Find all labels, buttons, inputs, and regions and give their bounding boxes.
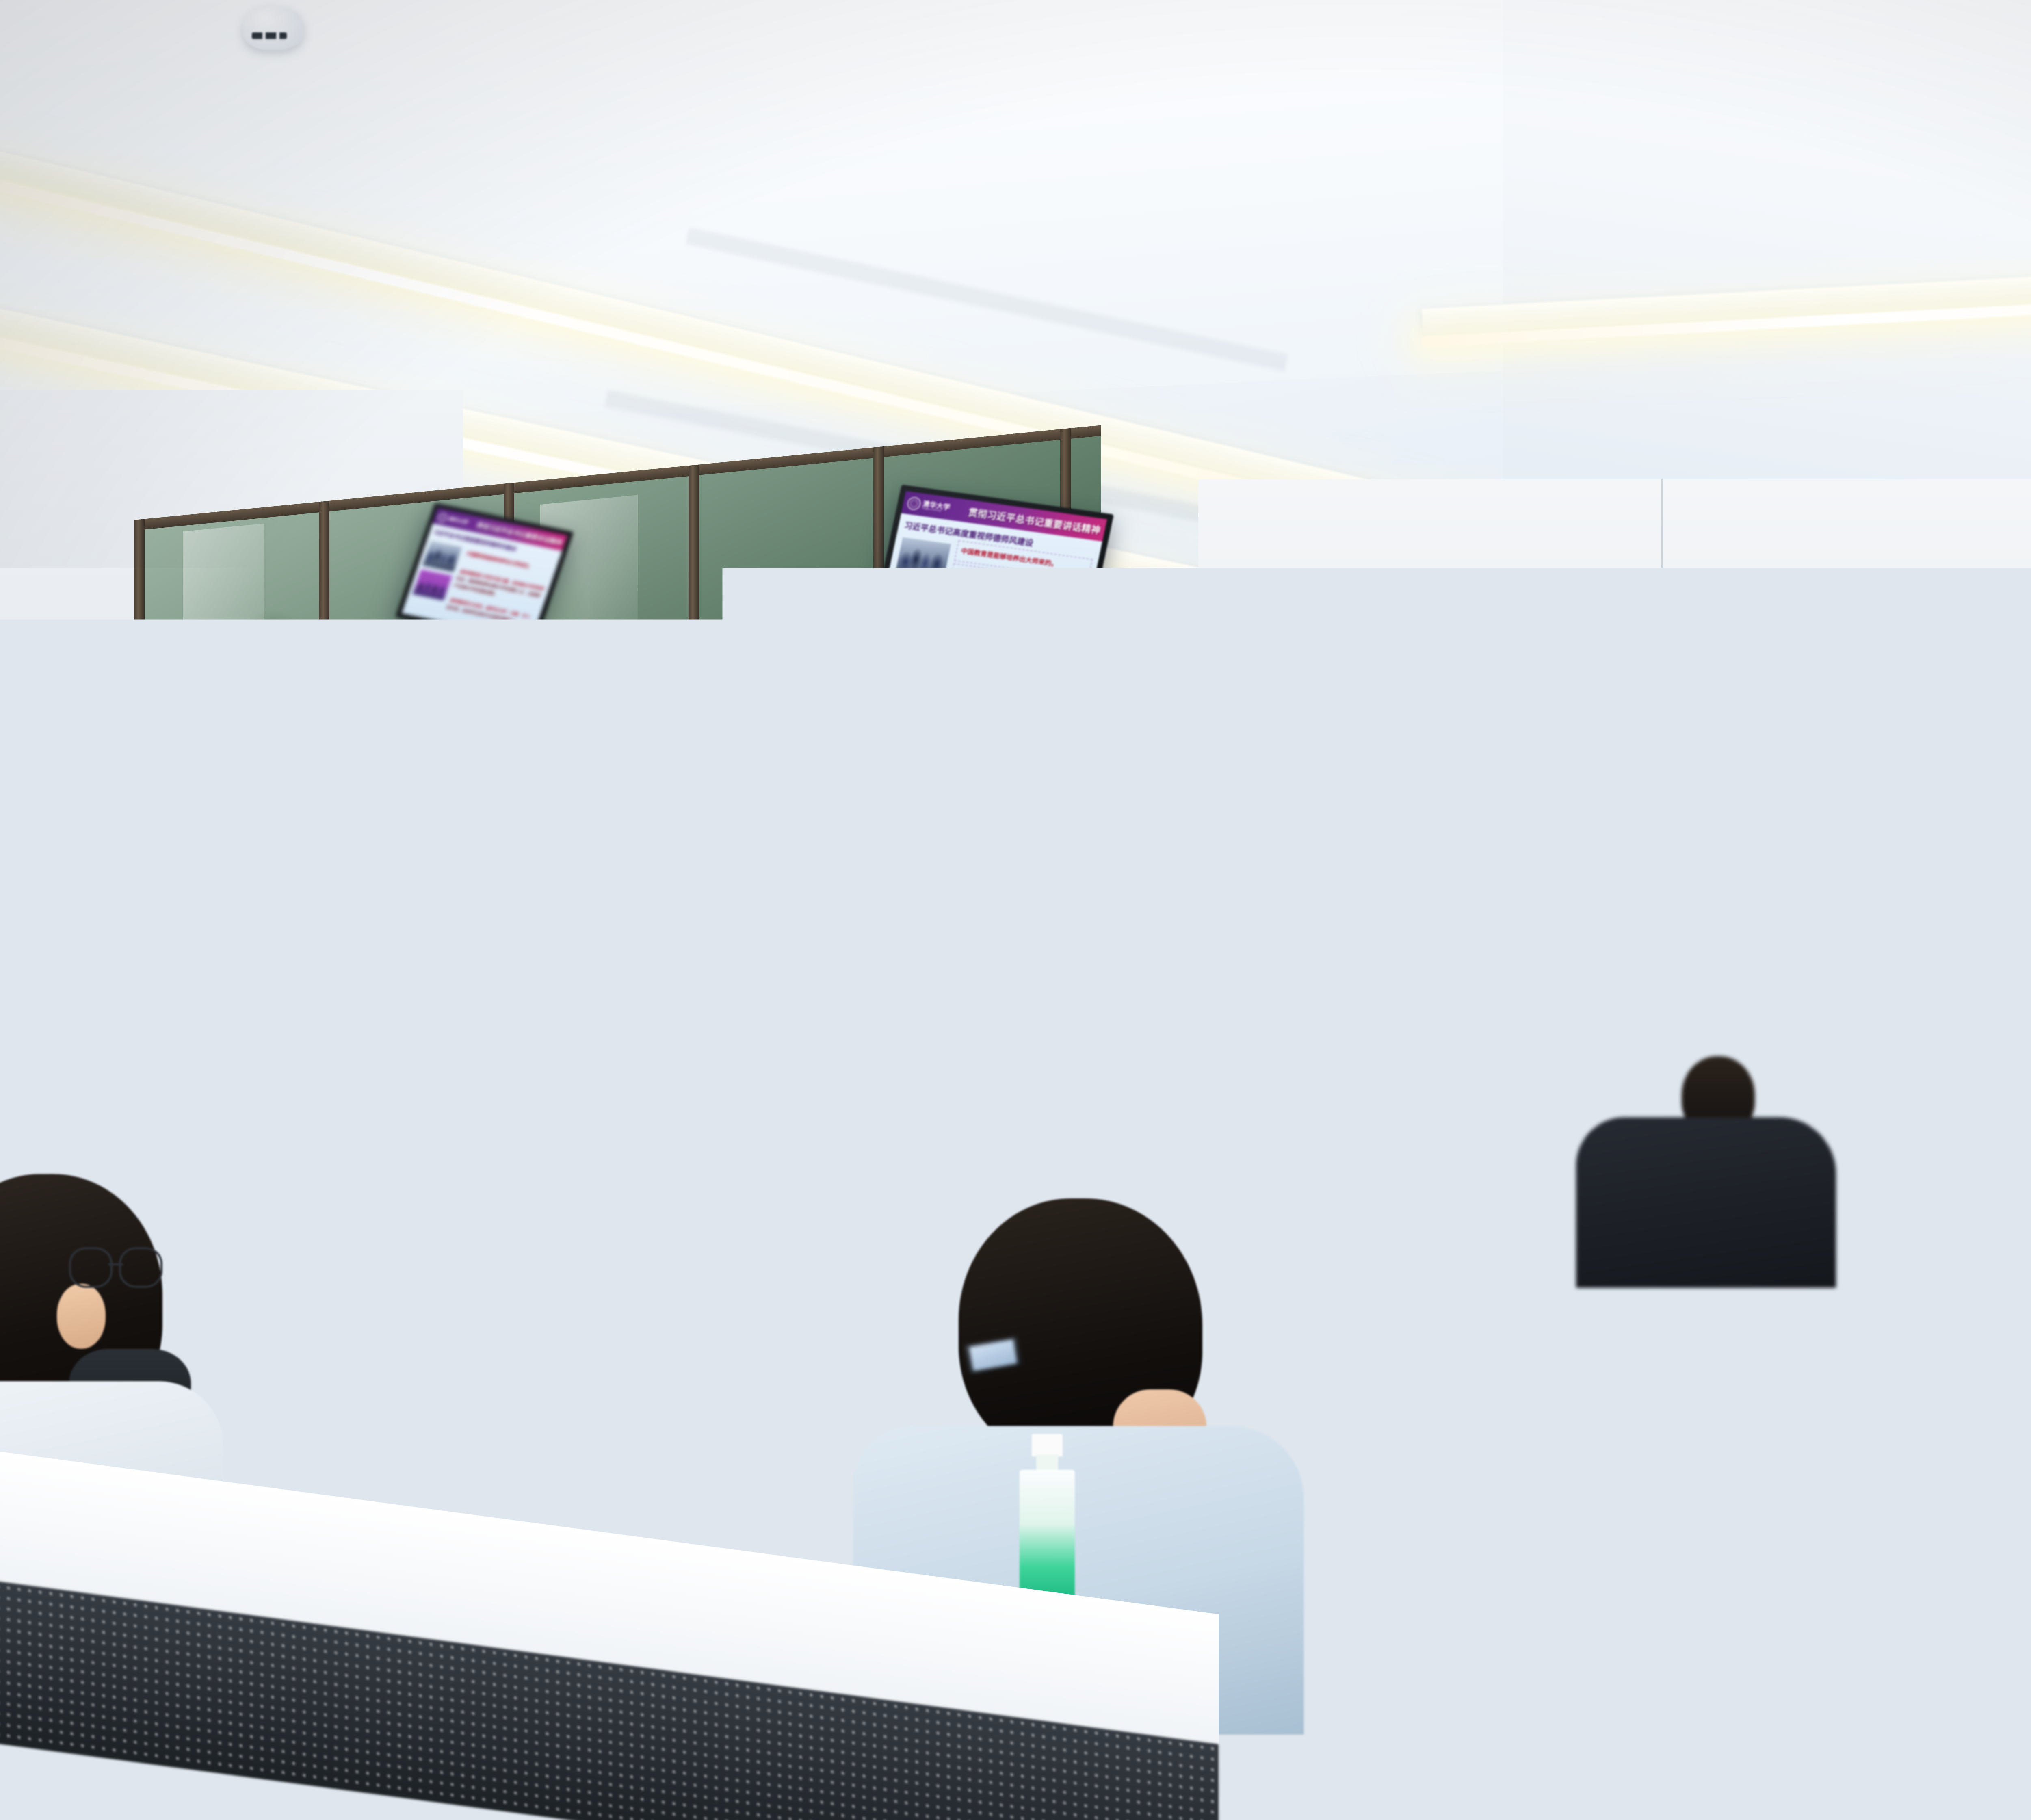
projector-rod (1278, 569, 1286, 613)
slide-bullet-box-2 (2021, 787, 2031, 897)
typing-hand-center (1475, 1499, 1609, 1601)
presenter-glasses (1810, 860, 1848, 871)
slide-photo-lab (1866, 729, 2006, 838)
slide-photo-caption-1: 考察成像与智能技术实验室 (1897, 825, 2000, 840)
tshirt-text-main: L'ARVA (2023, 1457, 2031, 1554)
left-monitor-photo-meeting (413, 569, 452, 600)
laptop-mid-3[interactable] (813, 1081, 937, 1181)
eyeglasses (396, 912, 425, 921)
water-bottle-foreground-2[interactable] (1020, 1434, 1075, 1605)
tsinghua-seal-icon (906, 496, 922, 511)
tsinghua-seal-icon (437, 512, 449, 523)
thermos-red[interactable] (472, 1080, 499, 1177)
ceiling-speaker-icon (1011, 658, 1050, 697)
tshirt-halftone-1 (1946, 1430, 2000, 1503)
face-mask (125, 938, 150, 963)
left-monitor-bullet-1: 中国教育是能够培养出大师来的。 (466, 551, 533, 571)
wall-equipment-box (1619, 743, 1652, 785)
tshirt-halftone-2 (1996, 1561, 2031, 1622)
tsinghua-seal-icon (1856, 647, 1881, 672)
slide-brand-zh: 清华大学 (1886, 650, 1944, 667)
lecture-hall-photo: 清华大学 Tsinghua University 贯彻习近平总书记重要讲话精神 … (0, 0, 2031, 1820)
lecture-chair-purple[interactable] (1855, 1290, 1951, 1367)
mid-monitor-photo-meeting (886, 580, 942, 625)
dome-camera-icon (1576, 746, 1608, 791)
wall-sensor (1650, 779, 1665, 799)
tshirt-band-top (1999, 1410, 2031, 1464)
left-monitor-photo-lab (422, 541, 462, 572)
left-monitor-brand-zh: 清华大学 (448, 516, 469, 525)
eyeglasses (69, 1247, 162, 1284)
ceiling-soffit-right (1503, 0, 2031, 496)
water-bottle-foreground-3[interactable] (1336, 1544, 1393, 1722)
face-mask (498, 912, 522, 935)
face-mask (916, 1052, 941, 1078)
chair-back-foreground[interactable] (1609, 1657, 2031, 1820)
laptop-mid-2[interactable] (597, 1068, 718, 1168)
person-ear (57, 1284, 106, 1349)
slide-bullet-box-1 (2020, 728, 2031, 789)
eyeglasses (285, 1028, 316, 1038)
mid-monitor-photo-lab (894, 537, 951, 583)
hanging-monitor-mid-slide: 清华大学 Tsinghua University 贯彻习近平总书记重要讲话精神 … (877, 491, 1107, 656)
eyeglasses (657, 1050, 690, 1061)
slide-section-title: 习近平总书记高度重视师德师风建设 (1864, 693, 2031, 726)
smoke-detector-icon (243, 6, 304, 50)
eyeglasses (773, 921, 802, 930)
